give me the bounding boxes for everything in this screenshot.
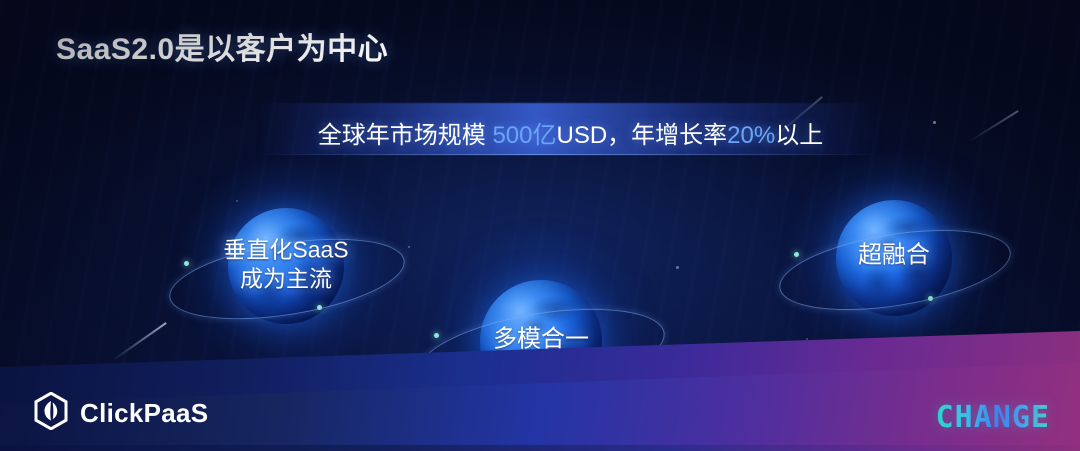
subtitle-market-figure: 500亿 [492,122,556,149]
orbit-dot-hyperconverged-left [794,252,799,257]
particle-dot-2 [676,266,679,269]
particle-dot-1 [933,121,936,124]
subtitle-growth-rate: 20% [727,122,775,149]
orbit-dot-multimodal-left [434,333,439,338]
subtitle-text: 全球年市场规模 500亿USD，年增长率20%以上 [258,115,883,150]
orbit-dot-vertical-saas-left [184,261,189,266]
orbit-dot-vertical-saas-right [317,305,322,310]
hexagon-logo-icon [34,392,68,435]
meteor-streak-left [112,322,167,361]
sphere-label-line1: 超融合 [858,241,930,272]
sphere-label-vertical-saas: 垂直化SaaS 成为主流 [223,236,348,295]
subtitle-banner-underline [258,154,883,155]
change-campaign-logo: CHANGE [936,400,1050,435]
sphere-label-line1: 垂直化SaaS [223,236,348,265]
presentation-slide: SaaS2.0是以客户为中心 全球年市场规模 500亿USD，年增长率20%以上… [0,0,1080,451]
orbit-dot-hyperconverged-right [928,296,933,301]
clickpaas-wordmark: ClickPaaS [80,398,208,429]
sphere-label-line2: 成为主流 [223,265,348,294]
particle-dot-3 [408,246,410,248]
clickpaas-logo: ClickPaaS [34,392,208,435]
subtitle-mid: USD，年增长率 [557,122,728,149]
sphere-label-hyperconverged: 超融合 [858,241,930,272]
slide-title: SaaS2.0是以客户为中心 [56,24,388,68]
footer-band-edge [0,445,1080,451]
meteor-streak-top-right [968,110,1018,142]
subtitle-lead: 全球年市场规模 [318,122,493,149]
subtitle-tail: 以上 [775,122,823,149]
particle-dot-5 [806,338,808,340]
particle-dot-4 [236,200,238,202]
